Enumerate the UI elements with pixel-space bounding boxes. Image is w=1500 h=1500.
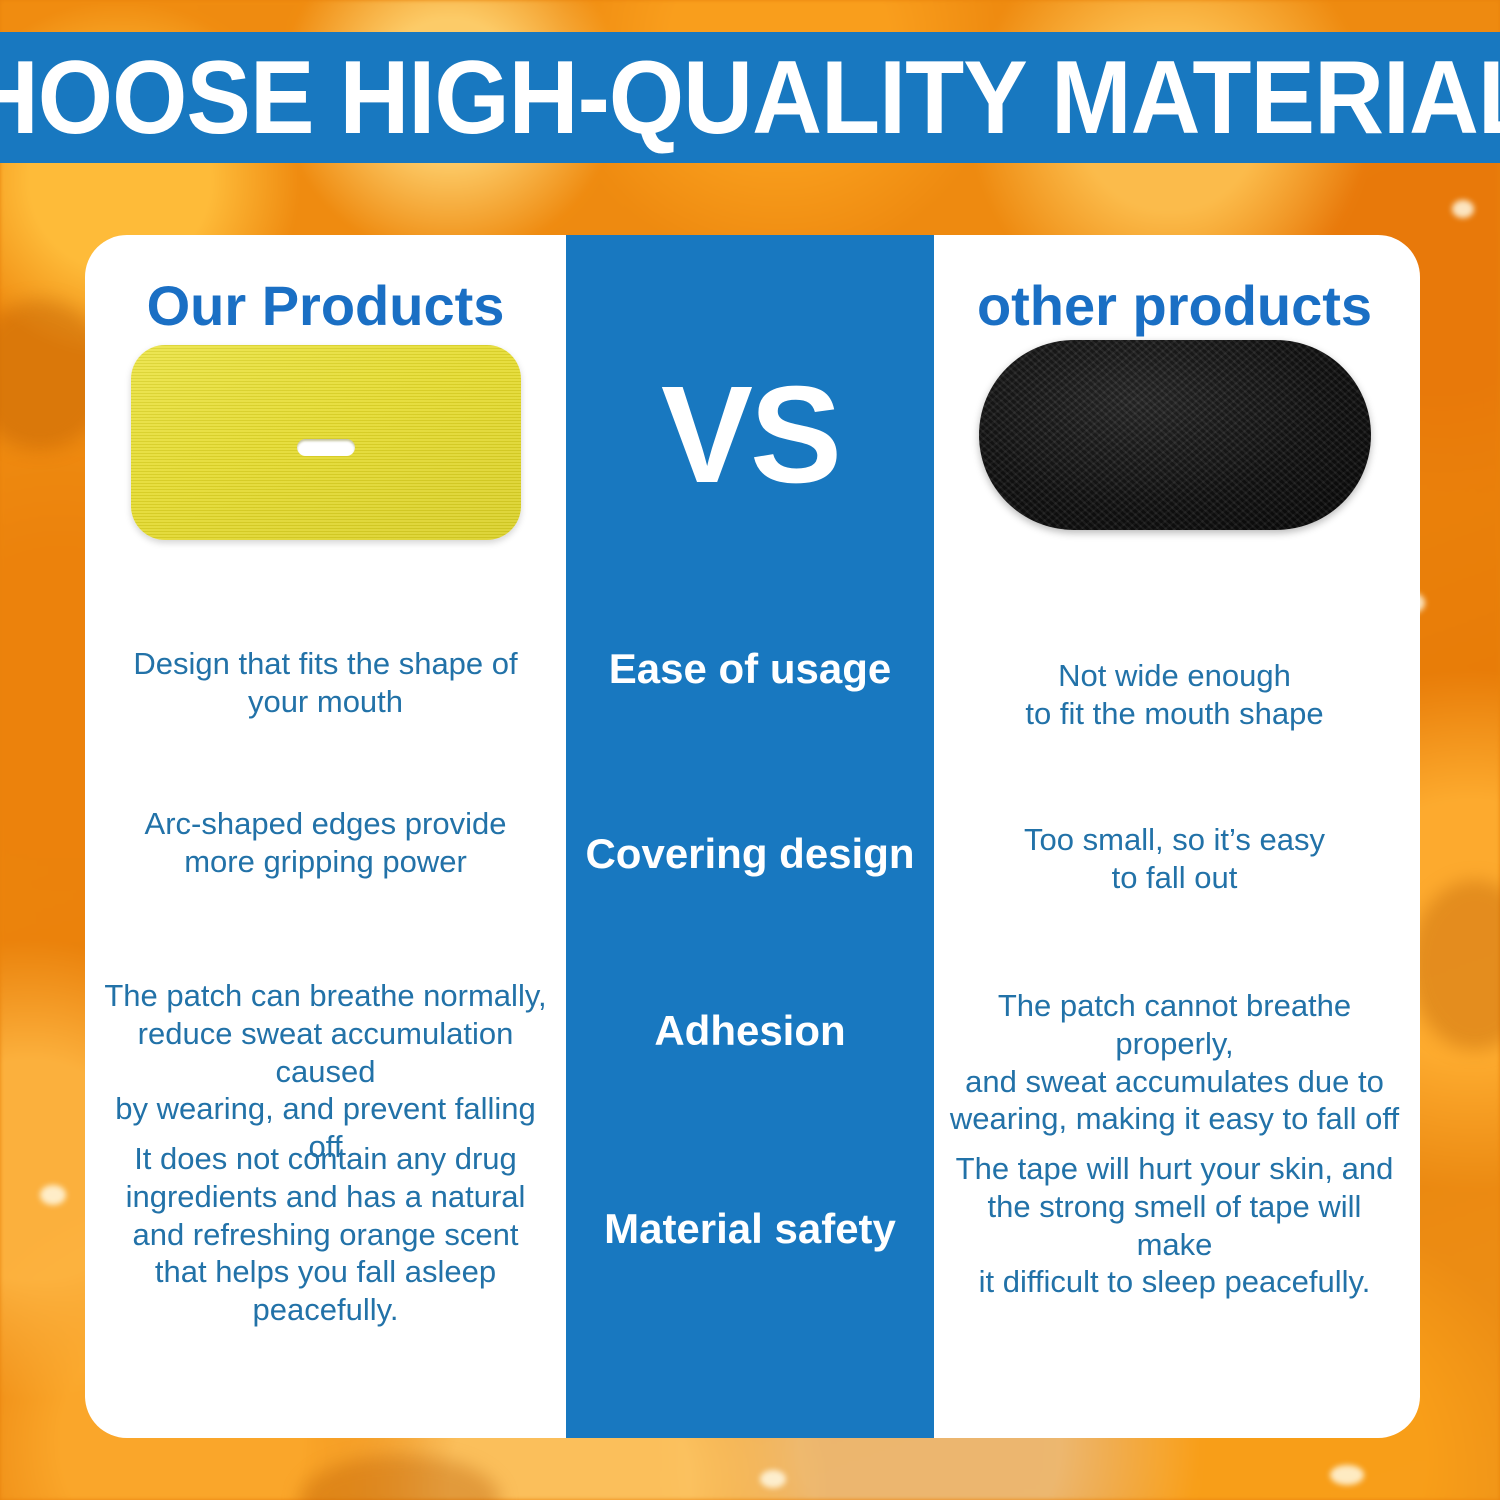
- header-banner: CHOOSE HIGH-QUALITY MATERIALS: [0, 32, 1500, 163]
- other-products-heading: other products: [934, 278, 1415, 334]
- background-highlight-speck: [1330, 1465, 1364, 1485]
- other-feature-text-covering-design: Too small, so it’s easy to fall out: [948, 821, 1401, 897]
- criterion-adhesion: Adhesion: [566, 1007, 934, 1054]
- patch-vent-slot-icon: [297, 439, 355, 456]
- criterion-material-safety: Material safety: [566, 1205, 934, 1252]
- comparison-card: Our Products Design that fits the shape …: [85, 235, 1420, 1438]
- other-products-column: other products Not wide enough to fit th…: [934, 235, 1415, 1438]
- our-feature-text-ease-of-usage: Design that fits the shape of your mouth: [99, 645, 552, 721]
- other-product-image-wrap: [934, 340, 1415, 530]
- yellow-mouth-patch-swatch: [131, 345, 521, 540]
- our-feature-text-adhesion: The patch can breathe normally, reduce s…: [99, 977, 552, 1166]
- our-products-column: Our Products Design that fits the shape …: [85, 235, 566, 1438]
- our-feature-text-material-safety: It does not contain any drug ingredients…: [99, 1140, 552, 1329]
- criterion-ease-of-usage: Ease of usage: [566, 645, 934, 692]
- other-feature-text-material-safety: The tape will hurt your skin, and the st…: [948, 1150, 1401, 1301]
- black-oval-patch-swatch: [979, 340, 1371, 530]
- background-highlight-speck: [760, 1470, 786, 1488]
- our-products-heading: Our Products: [85, 278, 566, 334]
- page-title: CHOOSE HIGH-QUALITY MATERIALS: [0, 46, 1500, 150]
- background-highlight-speck: [1452, 200, 1474, 218]
- criterion-covering-design: Covering design: [566, 830, 934, 877]
- our-product-image-wrap: [85, 345, 566, 540]
- criteria-column: VS Ease of usage Covering design Adhesio…: [566, 235, 934, 1438]
- our-feature-text-covering-design: Arc-shaped edges provide more gripping p…: [99, 805, 552, 881]
- other-feature-text-adhesion: The patch cannot breathe properly, and s…: [948, 987, 1401, 1138]
- vs-label: VS: [566, 366, 934, 504]
- infographic-stage: CHOOSE HIGH-QUALITY MATERIALS Our Produc…: [0, 0, 1500, 1500]
- background-highlight-speck: [40, 1185, 66, 1205]
- other-feature-text-ease-of-usage: Not wide enough to fit the mouth shape: [948, 657, 1401, 733]
